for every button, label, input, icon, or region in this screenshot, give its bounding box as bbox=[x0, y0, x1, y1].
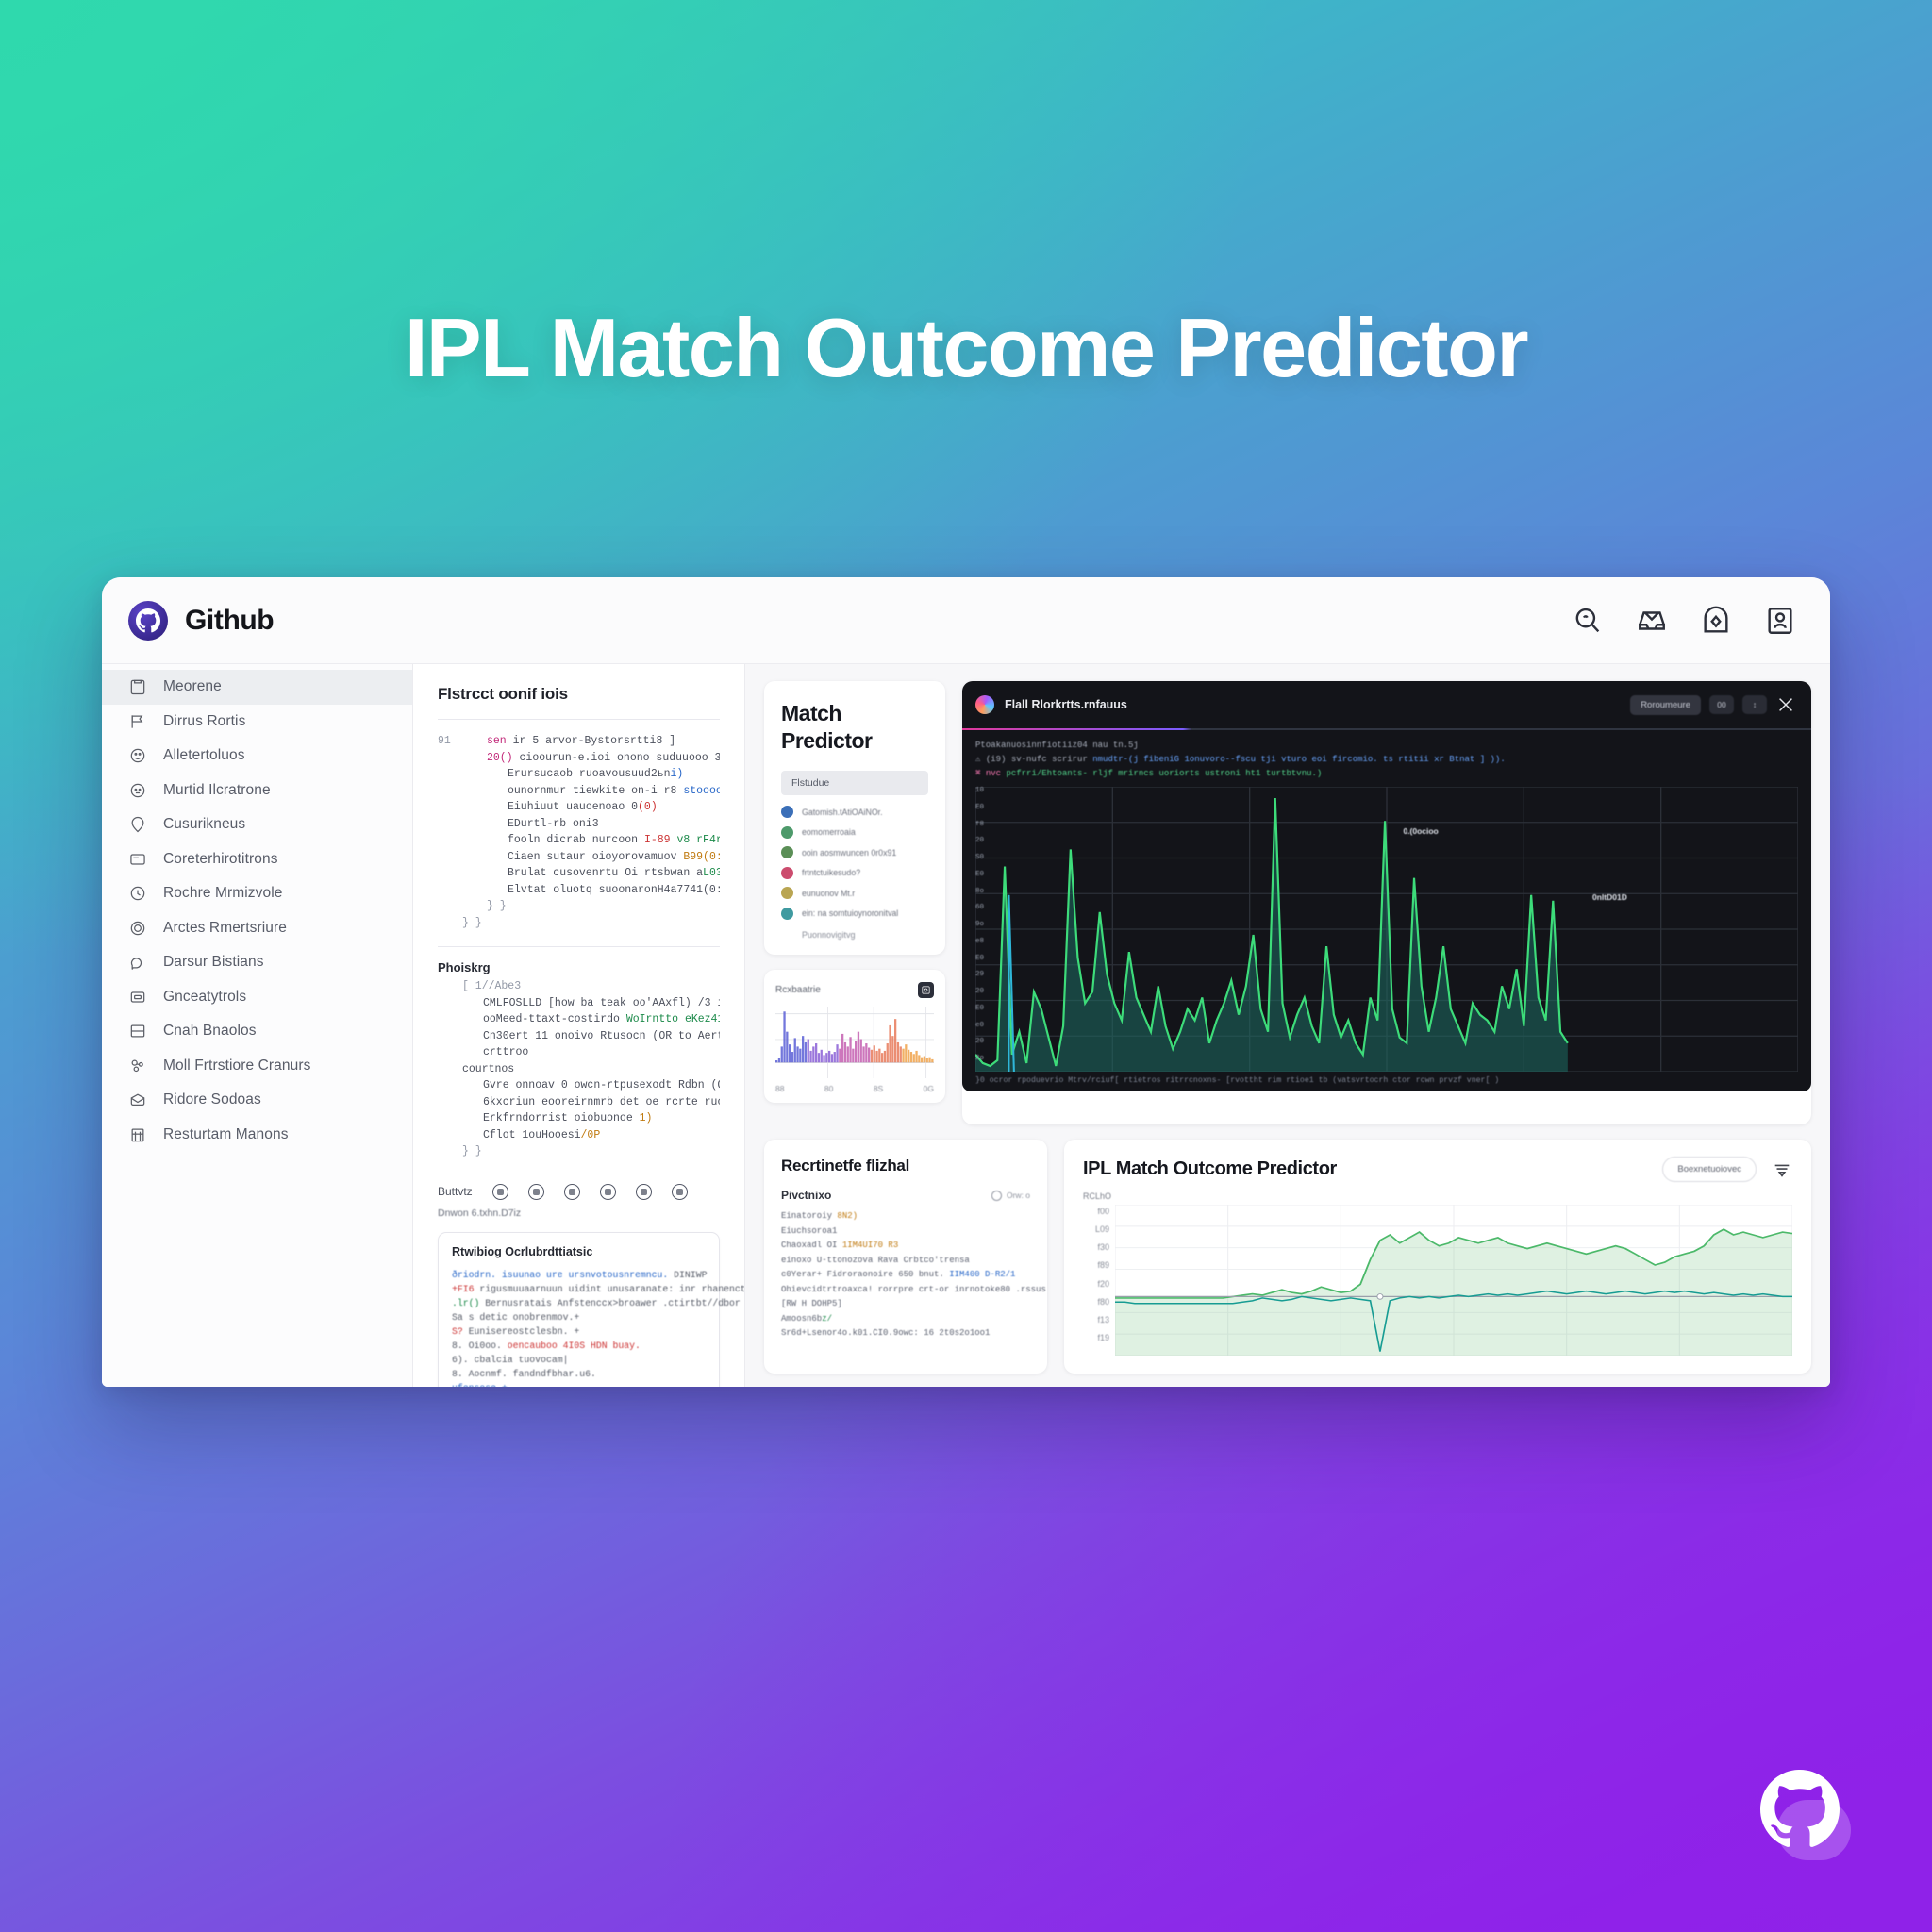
app-window: Github MeoreneDirrus RortisAlletertoluos… bbox=[102, 577, 1830, 1387]
axis-tick-label: E0 bbox=[975, 871, 984, 878]
code-line: [RW H DOHP5] bbox=[781, 1297, 1030, 1312]
axis-tick-label: 10 bbox=[975, 787, 984, 794]
list-item-label: eomomerroaia bbox=[802, 827, 856, 837]
terminal-title: Flall Rlorkrtts.rnfauus bbox=[1005, 698, 1127, 711]
terminal-log: Ptoakanuosinnfiotiiz04 nau tn.5j⚠ (i9) s… bbox=[975, 739, 1798, 781]
code-panel-heading: Flstrcct oonif iois bbox=[438, 685, 720, 704]
sidebar-item-10[interactable]: Cnah Bnaolos bbox=[102, 1014, 412, 1049]
card-icon bbox=[128, 850, 147, 869]
sidebar-item-6[interactable]: Rochre Mrmizvole bbox=[102, 876, 412, 911]
realtime-subtitle: Pivctnixo bbox=[781, 1189, 831, 1202]
axis-tick-label: 20 bbox=[975, 837, 984, 844]
sync-circle-icon[interactable] bbox=[636, 1184, 652, 1200]
code-line: Sr6d+Lsenor4o.k01.CI0.9owc: 16 2t0s2o1oo… bbox=[781, 1326, 1030, 1341]
terminal-header-left: Flall Rlorkrtts.rnfauus bbox=[975, 695, 1127, 714]
sidebar-item-label: Cnah Bnaolos bbox=[163, 1023, 257, 1040]
clipboard-icon bbox=[128, 677, 147, 696]
sidebar-item-0[interactable]: Meorene bbox=[102, 670, 412, 705]
home-icon[interactable] bbox=[1700, 605, 1732, 637]
realtime-subheader: Pivctnixo Orw: o bbox=[781, 1189, 1030, 1202]
code-line: ðriodrn. isuunao ure ursnvotousnremncu. … bbox=[452, 1268, 706, 1282]
terminal-square-button-2[interactable]: ↕ bbox=[1742, 695, 1767, 714]
sidebar-item-1[interactable]: Dirrus Rortis bbox=[102, 705, 412, 740]
axis-tick-label: 8S bbox=[874, 1084, 883, 1093]
sidebar-item-label: Darsur Bistians bbox=[163, 954, 264, 971]
sidebar-item-3[interactable]: Murtid Ilcratrone bbox=[102, 774, 412, 808]
code-line: 6kxcriun eooreirnmrb det oe rcrte rucit/… bbox=[438, 1094, 720, 1111]
axis-tick-label: 9o bbox=[975, 921, 984, 928]
code-line: Einatoroiy 8N2) bbox=[781, 1209, 1030, 1224]
code-line: [ 1//Abe3 bbox=[438, 978, 720, 995]
terminal-body: Ptoakanuosinnfiotiiz04 nau tn.5j⚠ (i9) s… bbox=[962, 730, 1811, 1091]
code-line: Chaoxadl OI 1IM4UI70 R3 bbox=[781, 1239, 1030, 1254]
code-line: EDurtl-rb oni3 bbox=[462, 816, 720, 833]
avatar bbox=[975, 695, 994, 714]
code-line: } } bbox=[438, 1143, 720, 1160]
screenshot-icon[interactable] bbox=[918, 982, 934, 998]
code-line: Gvre onnoav 0 owcn-rtpusexodt Rdbn (Ql t… bbox=[438, 1077, 720, 1094]
code-card-body: ðriodrn. isuunao ure ursnvotousnremncu. … bbox=[452, 1268, 706, 1388]
hero: IPL Match Outcome Predictor bbox=[0, 300, 1932, 396]
code-line: courtnos bbox=[438, 1061, 720, 1078]
chat-icon bbox=[128, 953, 147, 972]
realtime-panel-card[interactable]: Recrtinetfe flizhal Pivctnixo Orw: o Ein… bbox=[764, 1140, 1047, 1374]
ipl-plot-wrapper: f00L09f30f89f20f80f13f19 bbox=[1083, 1205, 1792, 1356]
chart-annotation: 0nltD01D bbox=[1592, 892, 1627, 902]
code-line: ooMeed-ttaxt-costirdo WoIrntto eKez41] bbox=[438, 1011, 720, 1028]
brand-name: Github bbox=[185, 605, 274, 637]
sidebar-item-label: Cusurikneus bbox=[163, 816, 245, 833]
mini-chart-plot bbox=[775, 1007, 934, 1078]
button-row-label: Buttvtz bbox=[438, 1185, 473, 1198]
axis-tick-label: 20 bbox=[975, 1038, 984, 1045]
code-line: Amoosn6bz/ bbox=[781, 1312, 1030, 1327]
code-line: Erkfrndorrist oiobuonoe 1) bbox=[438, 1110, 720, 1127]
match-predictor-list: Gatomish.tAtiOAiNOr.eomomerroaiaooin aos… bbox=[781, 806, 928, 920]
match-predictor-footer: Puonnovigitvg bbox=[781, 930, 928, 940]
sidebar-item-11[interactable]: Moll Frtrstiore Cranurs bbox=[102, 1049, 412, 1084]
network-icon bbox=[128, 1057, 147, 1075]
code-line: Cflot 1ouHooesi/0P bbox=[438, 1127, 720, 1144]
code-line: einoxo U-ttonozova Rava Crbtco'trensa bbox=[781, 1254, 1030, 1269]
terminal-chart: 10E0f820S0E08o609oe8E02920E0e0202o 0.(0o… bbox=[975, 787, 1798, 1072]
sidebar-item-label: Meorene bbox=[163, 678, 222, 695]
code-column: Flstrcct oonif iois 91 sen ir 5 arvor-By… bbox=[413, 664, 745, 1387]
smile-circle-icon[interactable] bbox=[564, 1184, 580, 1200]
clock-icon bbox=[991, 1191, 1002, 1201]
right-left-stack: Match Predictor Flstudue Gatomish.tAtiOA… bbox=[764, 681, 945, 1124]
sidebar-item-2[interactable]: Alletertoluos bbox=[102, 739, 412, 774]
terminal-header: Flall Rlorkrtts.rnfauus Roroumeure 00 ↕ bbox=[962, 681, 1811, 728]
sidebar-item-label: Gnceatytrols bbox=[163, 989, 246, 1006]
ipl-chart-card[interactable]: IPL Match Outcome Predictor Boexnetuoiov… bbox=[1064, 1140, 1811, 1374]
github-logo-icon bbox=[128, 601, 168, 641]
code-block-2[interactable]: [ 1//Abe3CMLFOSLLD [how ba teak oo'AAxfl… bbox=[438, 978, 720, 1160]
terminal-action-button[interactable]: Roroumeure bbox=[1630, 695, 1701, 715]
code-card[interactable]: Rtwibiog Ocrlubrdttiatsic ðriodrn. isuun… bbox=[438, 1232, 720, 1388]
octocat-badge[interactable] bbox=[1760, 1770, 1851, 1860]
sidebar-item-label: Resturtam Manons bbox=[163, 1126, 289, 1143]
code-section2-heading: Phoiskrg bbox=[438, 960, 720, 974]
realtime-clock-label: Orw: o bbox=[1007, 1191, 1030, 1200]
match-predictor-title-line2: Predictor bbox=[781, 727, 928, 755]
keyboard-icon bbox=[128, 988, 147, 1007]
code-line: 8. Aocnmf. fandndfbhar.u6. bbox=[452, 1367, 706, 1381]
avatar bbox=[781, 846, 793, 858]
sidebar-item-label: Coreterhirotitrons bbox=[163, 851, 278, 868]
sidebar-item-label: Rochre Mrmizvole bbox=[163, 885, 283, 902]
list-item[interactable]: frtntctuikesudo? bbox=[781, 867, 928, 879]
ipl-plot bbox=[1115, 1205, 1792, 1356]
code-line: ⚠ (i9) sv-nufc scrirur nmudtr-(j fibeniG… bbox=[975, 753, 1798, 767]
sidebar-item-label: Moll Frtrstiore Cranurs bbox=[163, 1058, 310, 1074]
ipl-chart-header: IPL Match Outcome Predictor Boexnetuoiov… bbox=[1083, 1157, 1792, 1182]
close-icon[interactable] bbox=[1775, 694, 1796, 715]
code-line: 6). cbalcia tuovocam| bbox=[452, 1353, 706, 1367]
building-icon bbox=[128, 1125, 147, 1144]
ipl-header-actions: Boexnetuoiovec bbox=[1662, 1157, 1792, 1182]
axis-tick-label: 60 bbox=[975, 904, 984, 911]
ipl-action-button[interactable]: Boexnetuoiovec bbox=[1662, 1157, 1757, 1182]
axis-tick-label: S0 bbox=[975, 854, 984, 861]
code-line: Cn30ert 11 onoivo Rtusocn (OR to Aertect… bbox=[438, 1028, 720, 1045]
mini-chart-header: Rcxbaatrie bbox=[775, 982, 934, 998]
axis-tick-label: L09 bbox=[1083, 1224, 1109, 1234]
sidebar-item-4[interactable]: Cusurikneus bbox=[102, 808, 412, 842]
match-predictor-card[interactable]: Match Predictor Flstudue Gatomish.tAtiOA… bbox=[764, 681, 945, 955]
sidebar-item-label: Ridore Sodoas bbox=[163, 1091, 261, 1108]
mini-chart-xlabels: 88808S0G bbox=[775, 1084, 934, 1093]
plus-circle-icon[interactable] bbox=[492, 1184, 508, 1200]
list-item[interactable]: Gatomish.tAtiOAiNOr. bbox=[781, 806, 928, 818]
code-line: sen ir 5 arvor-Bystorsrtti8 ] bbox=[462, 733, 720, 750]
button-row-note: Dnwon 6.txhn.D7iz bbox=[438, 1207, 720, 1219]
code-line: ounornmur tiewkite on-i r8 stoooor-oo HB… bbox=[462, 783, 720, 800]
axis-tick-label: f00 bbox=[1083, 1207, 1109, 1216]
divider bbox=[438, 946, 720, 947]
avatar bbox=[781, 806, 793, 818]
sidebar-item-8[interactable]: Darsur Bistians bbox=[102, 945, 412, 980]
axis-tick-label: 8o bbox=[975, 888, 984, 895]
mini-chart-card[interactable]: Rcxbaatrie 88808S0G bbox=[764, 970, 945, 1103]
code-line: Brulat cusovenrtu Oi rtsbwan aL0303(0) bbox=[462, 865, 720, 882]
axis-tick-label: E0 bbox=[975, 804, 984, 811]
github-octocat-icon bbox=[1760, 1770, 1840, 1849]
realtime-log: Einatoroiy 8N2)Eiuchsoroa1Chaoxadl OI 1I… bbox=[781, 1209, 1030, 1341]
sidebar-item-9[interactable]: Gnceatytrols bbox=[102, 980, 412, 1015]
code-line: Ciaen sutaur oioyorovamuov B99(0:) bbox=[462, 849, 720, 866]
code-line: Sa s detic onobrenmov.+ bbox=[452, 1310, 706, 1324]
code-line: Eiuchsoroa1 bbox=[781, 1224, 1030, 1240]
terminal-panel: Flall Rlorkrtts.rnfauus Roroumeure 00 ↕ bbox=[962, 681, 1811, 1091]
code-line: ufensose + bbox=[452, 1381, 706, 1388]
sidebar-item-7[interactable]: Arctes Rmertsriure bbox=[102, 911, 412, 946]
page-title: IPL Match Outcome Predictor bbox=[0, 300, 1932, 396]
axis-tick-label: e0 bbox=[975, 1022, 984, 1029]
list-item[interactable]: eomomerroaia bbox=[781, 826, 928, 839]
match-predictor-title-line1: Match bbox=[781, 700, 928, 727]
axis-tick-label: 29 bbox=[975, 971, 984, 978]
right-row-bottom: Recrtinetfe flizhal Pivctnixo Orw: o Ein… bbox=[764, 1140, 1811, 1374]
ipl-yaxis: f00L09f30f89f20f80f13f19 bbox=[1083, 1205, 1115, 1356]
flag-icon bbox=[128, 712, 147, 731]
axis-tick-label: e8 bbox=[975, 938, 984, 945]
face-icon bbox=[128, 781, 147, 800]
avatar bbox=[781, 826, 793, 839]
sidebar-item-label: Dirrus Rortis bbox=[163, 713, 245, 730]
list-item-label: Gatomish.tAtiOAiNOr. bbox=[802, 808, 883, 817]
code-line: 20() cioourun-e.ioi onono suduuooo 3ss20… bbox=[462, 750, 720, 767]
code-line: CMLFOSLLD [how ba teak oo'AAxfl) /3 i5 1… bbox=[438, 995, 720, 1012]
code-line: c0Yerar+ Fidroraonoire 650 bnut. IIM400 … bbox=[781, 1268, 1030, 1283]
sidebar-item-13[interactable]: Resturtam Manons bbox=[102, 1118, 412, 1153]
right-row-top: Match Predictor Flstudue Gatomish.tAtiOA… bbox=[764, 681, 1811, 1124]
inbox-icon[interactable] bbox=[1636, 605, 1668, 637]
smiley-icon bbox=[128, 746, 147, 765]
pin-icon bbox=[128, 815, 147, 834]
match-predictor-title: Match Predictor bbox=[781, 700, 928, 755]
axis-tick-label: E0 bbox=[975, 1005, 984, 1012]
list-item-label: ein: na somtuioynoronitval bbox=[802, 908, 898, 918]
axis-tick-label: 80 bbox=[824, 1084, 833, 1093]
avatar bbox=[781, 908, 793, 920]
sidebar-item-label: Alletertoluos bbox=[163, 747, 245, 764]
list-item-label: ooin aosmwuncen 0r0x91 bbox=[802, 848, 896, 858]
list-item-label: eunuonov Mt.r bbox=[802, 889, 855, 898]
header-icons bbox=[1572, 605, 1796, 637]
search-icon[interactable] bbox=[1572, 605, 1604, 637]
terminal-footer: }0 ocror rpoduevrio Mtrv/rciuf[ rtietros… bbox=[975, 1072, 1798, 1091]
list-item[interactable]: ein: na somtuioynoronitval bbox=[781, 908, 928, 920]
terminal-header-right: Roroumeure 00 ↕ bbox=[1630, 694, 1796, 715]
axis-tick-label: f89 bbox=[1083, 1260, 1109, 1270]
list-item-label: frtntctuikesudo? bbox=[802, 868, 860, 877]
brand[interactable]: Github bbox=[128, 601, 274, 641]
code-block[interactable]: sen ir 5 arvor-Bystorsrtti8 ]20() cioour… bbox=[462, 733, 720, 931]
image-circle-icon[interactable] bbox=[672, 1184, 688, 1200]
code-line: Eiuhiuut uauoenoao 0(0) bbox=[462, 799, 720, 816]
right-column: Match Predictor Flstudue Gatomish.tAtiOA… bbox=[745, 664, 1830, 1387]
axis-tick-label: E0 bbox=[975, 955, 984, 962]
axis-tick-label: 0G bbox=[924, 1084, 934, 1093]
profile-card-icon[interactable] bbox=[1764, 605, 1796, 637]
envelope-icon bbox=[128, 1091, 147, 1109]
code-line: Elvtat oluotq suoonaronH4a7741(0:) bbox=[462, 882, 720, 899]
clock-circle-icon[interactable] bbox=[528, 1184, 544, 1200]
code-line: fooln dicrab nurcoon I-89 v8 rF4r2C9 bbox=[462, 832, 720, 849]
app-header: Github bbox=[102, 577, 1830, 664]
code-line: S? Eunisereostclesbn. + bbox=[452, 1324, 706, 1339]
terminal-square-button-1[interactable]: 00 bbox=[1709, 695, 1734, 714]
list-item[interactable]: ooin aosmwuncen 0r0x91 bbox=[781, 846, 928, 858]
axis-tick-label: f20 bbox=[1083, 1279, 1109, 1289]
code-line: +FI6 rigusmuuaarnuun uidint unusaranate:… bbox=[452, 1282, 706, 1296]
code-line: } } bbox=[462, 898, 720, 915]
code-line: .lr() Bernusratais Anfstenccx>broawer .c… bbox=[452, 1296, 706, 1310]
chart-annotation: 0.(0ocioo bbox=[1403, 826, 1438, 836]
divider bbox=[438, 719, 720, 720]
code-line: Ptoakanuosinnfiotiiz04 nau tn.5j bbox=[975, 739, 1798, 753]
code-line: Ohievcidtrtroaxca! rorrpre crt-or inrnot… bbox=[781, 1283, 1030, 1298]
axis-tick-label: f13 bbox=[1083, 1315, 1109, 1324]
divider bbox=[438, 1174, 720, 1174]
axis-tick-label: f8 bbox=[975, 821, 984, 828]
code-line: } } bbox=[462, 915, 720, 932]
ipl-ylabel: RCLhO bbox=[1083, 1191, 1792, 1201]
button-row: Buttvtz bbox=[438, 1184, 720, 1200]
avatar bbox=[781, 867, 793, 879]
code-card-title: Rtwibiog Ocrlubrdttiatsic bbox=[452, 1245, 706, 1258]
avatar bbox=[781, 887, 793, 899]
terminal-panel-outer: Flall Rlorkrtts.rnfauus Roroumeure 00 ↕ bbox=[962, 681, 1811, 1124]
list-item[interactable]: eunuonov Mt.r bbox=[781, 887, 928, 899]
clock-icon bbox=[128, 884, 147, 903]
mini-chart-title: Rcxbaatrie bbox=[775, 985, 821, 995]
match-predictor-tab[interactable]: Flstudue bbox=[781, 771, 928, 795]
code-line: Erursucaob ruoavousuud2ьni) bbox=[462, 766, 720, 783]
code-line: ⌘ nvc pcfrri/Ehtoants- rljf mrirncs uori… bbox=[975, 767, 1798, 781]
sidebar-item-5[interactable]: Coreterhirotitrons bbox=[102, 842, 412, 877]
badge-icon bbox=[128, 919, 147, 938]
app-body: MeoreneDirrus RortisAlletertoluosMurtid … bbox=[102, 664, 1830, 1387]
code-gutter: 91 bbox=[438, 733, 462, 931]
realtime-title: Recrtinetfe flizhal bbox=[781, 1157, 1030, 1175]
code-line: 8. Oi0oo. oencauboo 4I0S HDN buay. bbox=[452, 1339, 706, 1353]
sidebar-item-label: Murtid Ilcratrone bbox=[163, 782, 271, 799]
axis-tick-label: f30 bbox=[1083, 1242, 1109, 1252]
axis-tick-label: 88 bbox=[775, 1084, 784, 1093]
axis-tick-label: f80 bbox=[1083, 1297, 1109, 1307]
axis-tick-label: f19 bbox=[1083, 1333, 1109, 1342]
sidebar-item-label: Arctes Rmertsriure bbox=[163, 920, 287, 937]
realtime-clock: Orw: o bbox=[991, 1191, 1030, 1201]
at-circle-icon[interactable] bbox=[600, 1184, 616, 1200]
code-line: crttroo bbox=[438, 1044, 720, 1061]
ipl-chart-title: IPL Match Outcome Predictor bbox=[1083, 1158, 1337, 1180]
sidebar: MeoreneDirrus RortisAlletertoluosMurtid … bbox=[102, 664, 413, 1387]
sidebar-item-12[interactable]: Ridore Sodoas bbox=[102, 1083, 412, 1118]
filter-icon[interactable] bbox=[1772, 1159, 1792, 1180]
panel-icon bbox=[128, 1022, 147, 1041]
axis-tick-label: 2o bbox=[975, 1055, 984, 1062]
axis-tick-label: 20 bbox=[975, 988, 984, 995]
